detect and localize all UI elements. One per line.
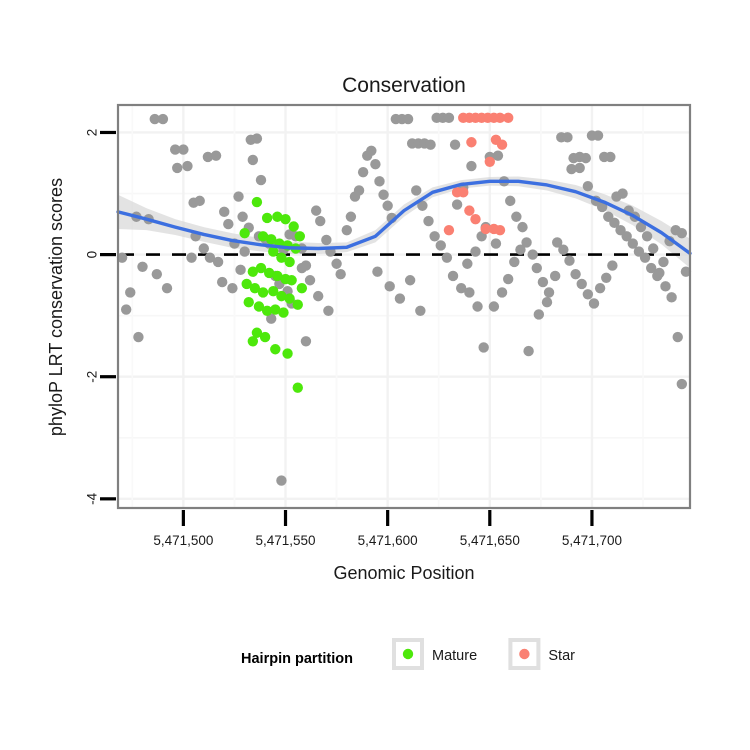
data-point (607, 260, 617, 270)
data-point (534, 309, 544, 319)
data-point (385, 281, 395, 291)
x-axis-label: Genomic Position (333, 563, 474, 583)
data-point (564, 256, 574, 266)
data-point (313, 291, 323, 301)
data-point (511, 212, 521, 222)
data-point (125, 287, 135, 297)
data-point (239, 228, 249, 238)
data-point (601, 273, 611, 283)
data-point (595, 283, 605, 293)
data-point (425, 139, 435, 149)
data-point (152, 269, 162, 279)
data-point (260, 332, 270, 342)
data-point (276, 475, 286, 485)
conservation-scatter-plot: Conservation phyloP LRT conservation sco… (0, 0, 750, 750)
data-point (342, 225, 352, 235)
data-point (405, 275, 415, 285)
data-point (478, 342, 488, 352)
y-axis-label: phyloP LRT conservation scores (46, 178, 66, 436)
data-point (186, 252, 196, 262)
data-point (640, 252, 650, 262)
data-point (593, 130, 603, 140)
data-point (495, 225, 505, 235)
data-point (248, 155, 258, 165)
data-point (178, 144, 188, 154)
data-point (395, 293, 405, 303)
data-point (331, 259, 341, 269)
data-point (223, 219, 233, 229)
x-tick-label: 5,471,500 (153, 533, 213, 548)
data-point (358, 167, 368, 177)
y-tick-label: 2 (85, 129, 100, 137)
data-point (233, 191, 243, 201)
data-point (491, 238, 501, 248)
data-point (523, 346, 533, 356)
data-point (448, 271, 458, 281)
data-point (509, 257, 519, 267)
data-point (370, 159, 380, 169)
data-point (354, 185, 364, 195)
data-point (411, 185, 421, 195)
data-point (415, 306, 425, 316)
data-point (444, 225, 454, 235)
data-point (227, 283, 237, 293)
data-point (648, 243, 658, 253)
data-point (505, 196, 515, 206)
data-point (574, 163, 584, 173)
data-point (673, 332, 683, 342)
data-point (462, 259, 472, 269)
data-point (382, 201, 392, 211)
data-point (335, 269, 345, 279)
data-point (583, 289, 593, 299)
data-point (464, 205, 474, 215)
data-point (280, 214, 290, 224)
data-point (297, 263, 307, 273)
data-point (583, 181, 593, 191)
data-point (162, 283, 172, 293)
data-point (244, 297, 254, 307)
data-point (301, 336, 311, 346)
data-point (237, 212, 247, 222)
data-point (677, 379, 687, 389)
data-point (239, 246, 249, 256)
data-point (570, 269, 580, 279)
data-point (217, 277, 227, 287)
data-point (470, 246, 480, 256)
data-point (444, 113, 454, 123)
data-point (293, 299, 303, 309)
data-point (452, 199, 462, 209)
data-point (172, 163, 182, 173)
data-point (485, 157, 495, 167)
data-point (544, 287, 554, 297)
data-point (288, 221, 298, 231)
data-point (378, 190, 388, 200)
data-point (515, 245, 525, 255)
data-point (323, 306, 333, 316)
x-tick-label: 5,471,650 (460, 533, 520, 548)
data-point (472, 301, 482, 311)
data-point (497, 139, 507, 149)
data-point (315, 216, 325, 226)
data-point (497, 287, 507, 297)
data-point (429, 231, 439, 241)
data-point (248, 336, 258, 346)
data-point (213, 257, 223, 267)
data-point (617, 188, 627, 198)
data-point (528, 249, 538, 259)
data-point (589, 298, 599, 308)
data-point (581, 153, 591, 163)
chart-title: Conservation (342, 74, 466, 97)
data-point (372, 267, 382, 277)
data-point (666, 292, 676, 302)
data-point (658, 257, 668, 267)
plot-panel (117, 105, 691, 508)
data-point (121, 304, 131, 314)
data-point (137, 262, 147, 272)
data-point (295, 231, 305, 241)
data-point (517, 222, 527, 232)
data-point (442, 252, 452, 262)
data-point (436, 240, 446, 250)
panel-background (118, 105, 690, 508)
data-point (278, 307, 288, 317)
data-point (542, 297, 552, 307)
data-point (311, 205, 321, 215)
data-point (270, 344, 280, 354)
data-point (403, 114, 413, 124)
x-tick-label: 5,471,550 (255, 533, 315, 548)
data-point (258, 287, 268, 297)
data-point (211, 150, 221, 160)
data-point (256, 175, 266, 185)
data-point (305, 275, 315, 285)
data-point (158, 114, 168, 124)
y-tick-label: -4 (85, 492, 100, 504)
data-point (219, 207, 229, 217)
data-point (660, 281, 670, 291)
data-point (605, 152, 615, 162)
data-point (458, 187, 468, 197)
data-point (562, 132, 572, 142)
data-point (558, 245, 568, 255)
y-tick-label: 0 (85, 251, 100, 259)
data-point (489, 301, 499, 311)
data-point (182, 161, 192, 171)
legend-label: Mature (432, 648, 477, 664)
data-point (677, 228, 687, 238)
data-point (423, 216, 433, 226)
data-point (195, 196, 205, 206)
data-point (532, 263, 542, 273)
data-point (374, 176, 384, 186)
data-point (450, 139, 460, 149)
data-point (252, 133, 262, 143)
legend-label: Star (548, 648, 575, 664)
data-point (366, 146, 376, 156)
data-point (503, 113, 513, 123)
data-point (642, 231, 652, 241)
data-point (284, 257, 294, 267)
data-point (503, 274, 513, 284)
data-point (321, 235, 331, 245)
data-point (262, 213, 272, 223)
legend-key-dot (403, 649, 413, 659)
data-point (297, 283, 307, 293)
data-point (286, 275, 296, 285)
data-point (199, 243, 209, 253)
data-point (577, 279, 587, 289)
data-point (252, 197, 262, 207)
data-point (470, 214, 480, 224)
legend-key-dot (519, 649, 529, 659)
x-tick-label: 5,471,600 (358, 533, 418, 548)
data-point (538, 277, 548, 287)
chart-root: Conservation phyloP LRT conservation sco… (0, 0, 750, 750)
legend-title: Hairpin partition (241, 651, 353, 667)
data-point (466, 161, 476, 171)
data-point (346, 212, 356, 222)
x-tick-label: 5,471,700 (562, 533, 622, 548)
data-point (550, 271, 560, 281)
data-point (282, 348, 292, 358)
data-point (466, 137, 476, 147)
data-point (464, 287, 474, 297)
data-point (293, 383, 303, 393)
data-point (654, 268, 664, 278)
y-tick-label: -2 (85, 371, 100, 383)
data-point (133, 332, 143, 342)
data-point (235, 265, 245, 275)
